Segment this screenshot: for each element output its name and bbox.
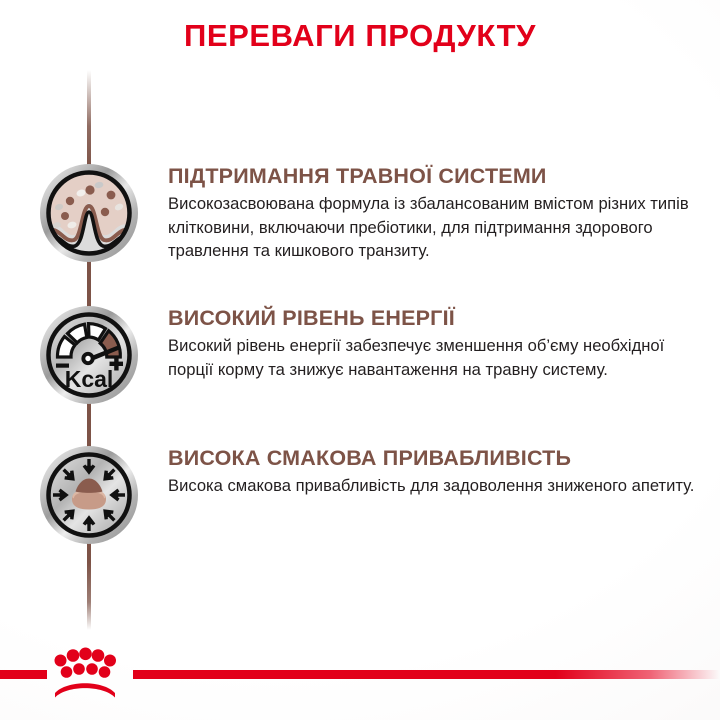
benefit-heading-1: ПІДТРИМАННЯ ТРАВНОЇ СИСТЕМИ <box>168 163 698 189</box>
benefit-heading-3: ВИСОКА СМАКОВА ПРИВАБЛИВІСТЬ <box>168 445 698 471</box>
page-title: ПЕРЕВАГИ ПРОДУКТУ <box>0 17 720 55</box>
footer-bar-right <box>133 670 720 679</box>
benefit-text-1: ПІДТРИМАННЯ ТРАВНОЇ СИСТЕМИ Високозасвою… <box>168 163 698 263</box>
kcal-gauge-icon: Kcal <box>39 305 139 405</box>
footer <box>0 630 720 720</box>
benefit-body-1: Високозасвоювана формула із збалансовани… <box>168 192 698 263</box>
digestive-system-icon <box>39 163 139 263</box>
footer-bar-left <box>0 670 47 679</box>
svg-text:Kcal: Kcal <box>65 366 114 392</box>
benefit-text-3: ВИСОКА СМАКОВА ПРИВАБЛИВІСТЬ Висока смак… <box>168 445 698 498</box>
benefit-heading-2: ВИСОКИЙ РІВЕНЬ ЕНЕРГІЇ <box>168 305 698 331</box>
benefit-text-2: ВИСОКИЙ РІВЕНЬ ЕНЕРГІЇ Високий рівень ен… <box>168 305 698 381</box>
royal-canin-crown-logo <box>49 647 121 699</box>
food-bowl-arrows-icon <box>39 445 139 545</box>
benefit-body-2: Високий рівень енергії забезпечує зменше… <box>168 334 698 381</box>
product-benefits-page: ПЕРЕВАГИ ПРОДУКТУ <box>0 0 720 720</box>
benefit-body-3: Висока смакова привабливість для задовол… <box>168 474 698 498</box>
